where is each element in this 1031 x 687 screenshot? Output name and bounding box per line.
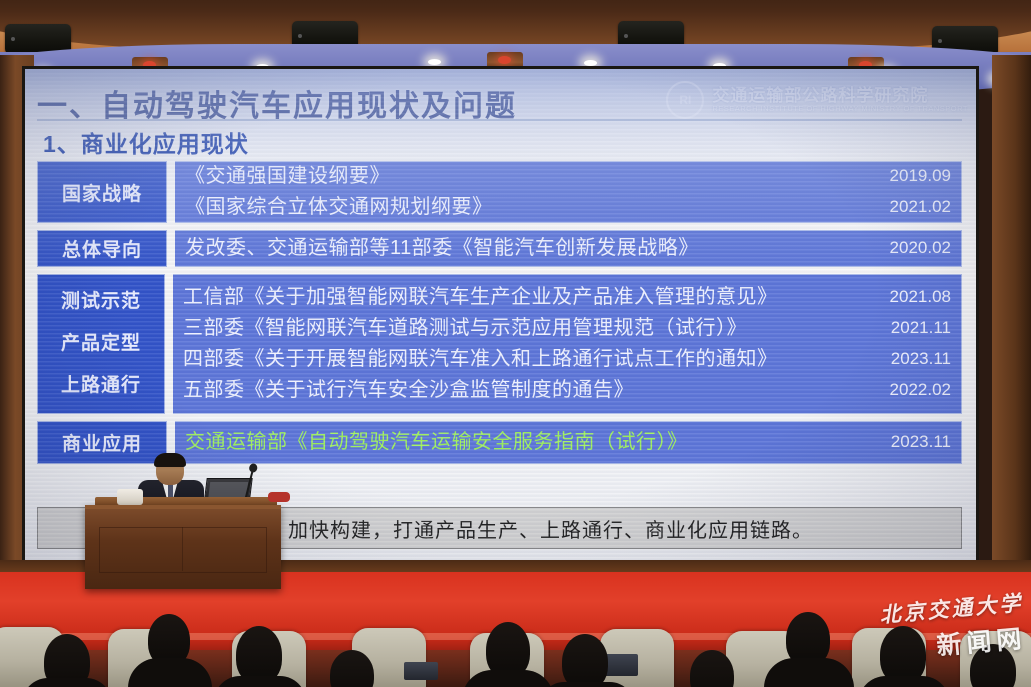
row-text: 五部委《关于试行汽车安全沙盒监管制度的通告》 [183,375,634,406]
row-line: 《国家综合立体交通网规划纲要》 2021.02 [185,192,951,223]
table-row: 测试示范 产品定型 上路通行 工信部《关于加强智能网联汽车生产企业及产品准入管理… [37,274,962,414]
row-text: 三部委《智能网联汽车道路测试与示范应用管理规范（试行）》 [183,313,747,344]
row-line: 《交通强国建设纲要》 2019.09 [185,161,951,192]
row-date: 2020.02 [890,235,951,261]
row-date: 2023.11 [891,346,951,372]
row-body: 工信部《关于加强智能网联汽车生产企业及产品准入管理的意见》 2021.08 三部… [173,274,962,414]
row-label-line: 上路通行 [61,368,141,404]
row-body: 交通运输部《自动驾驶汽车运输安全服务指南（试行）》 2023.11 [175,421,962,464]
table-row: 国家战略 《交通强国建设纲要》 2019.09 《国家综合立体交通网规划纲要》 … [37,161,962,223]
policy-table: 国家战略 《交通强国建设纲要》 2019.09 《国家综合立体交通网规划纲要》 … [37,161,962,471]
row-text-highlighted: 交通运输部《自动驾驶汽车运输安全服务指南（试行）》 [185,427,688,458]
podium [85,505,281,589]
row-line: 发改委、交通运输部等11部委《智能汽车创新发展战略》 2020.02 [185,233,951,264]
row-body: 发改委、交通运输部等11部委《智能汽车创新发展战略》 2020.02 [175,230,962,267]
row-text: 发改委、交通运输部等11部委《智能汽车创新发展战略》 [185,233,699,264]
ceiling-arch [0,0,1031,50]
audience-shoulders [764,658,854,687]
row-body: 《交通强国建设纲要》 2019.09 《国家综合立体交通网规划纲要》 2021.… [175,161,962,223]
row-text: 《交通强国建设纲要》 [185,161,390,192]
row-label: 测试示范 产品定型 上路通行 [37,274,165,414]
row-date: 2021.02 [890,194,951,220]
podium-object [268,492,290,502]
table-row: 总体导向 发改委、交通运输部等11部委《智能汽车创新发展战略》 2020.02 [37,230,962,267]
row-date: 2023.11 [891,429,951,455]
row-date: 2022.02 [890,377,951,403]
audience-shoulders [128,658,212,687]
podium-cup [117,489,143,505]
institute-logo-cn: 交通运输部公路科学研究院 [712,87,968,105]
podium-seam [182,527,183,571]
row-text: 工信部《关于加强智能网联汽车生产企业及产品准入管理的意见》 [183,282,778,313]
presenter-hair [154,453,186,467]
row-text: 《国家综合立体交通网规划纲要》 [185,192,493,223]
row-text: 四部委《关于开展智能网联汽车准入和上路通行试点工作的通知》 [183,344,778,375]
row-label-line: 测试示范 [61,284,141,320]
row-label: 国家战略 [37,161,167,223]
row-date: 2021.08 [890,284,951,310]
row-date: 2019.09 [890,163,951,189]
slide-subtitle: 1、商业化应用现状 [43,125,249,159]
institute-logo-mark: RI [666,81,704,119]
ceiling-downlight [428,59,441,65]
institute-logo-en: RESEARCH INSTITUTE OF HIGHWAY MINISTRY O… [712,105,968,113]
right-wall [992,55,1031,615]
institute-logo: RI 交通运输部公路科学研究院 RESEARCH INSTITUTE OF HI… [666,81,968,119]
row-line: 工信部《关于加强智能网联汽车生产企业及产品准入管理的意见》 2021.08 [183,282,951,313]
row-line: 交通运输部《自动驾驶汽车运输安全服务指南（试行）》 2023.11 [185,427,951,458]
audience-laptop [404,662,438,680]
row-date: 2021.11 [891,315,951,341]
row-line: 四部委《关于开展智能网联汽车准入和上路通行试点工作的通知》 2023.11 [183,344,951,375]
podium-panel [99,527,267,573]
row-label-line: 产品定型 [61,326,141,362]
lecture-hall-photo: 一、自动驾驶汽车应用现状及问题 RI 交通运输部公路科学研究院 RESEARCH… [0,0,1031,687]
row-line: 三部委《智能网联汽车道路测试与示范应用管理规范（试行）》 2021.11 [183,313,951,344]
row-label: 总体导向 [37,230,167,267]
title-divider [37,119,962,121]
audience [0,600,1031,687]
row-line: 五部委《关于试行汽车安全沙盒监管制度的通告》 2022.02 [183,375,951,406]
audience-head [562,634,608,687]
